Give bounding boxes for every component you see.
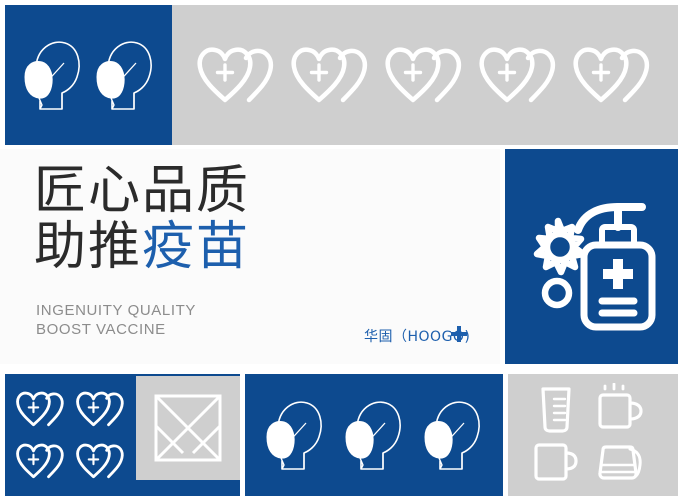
heart-plus-icon: [570, 44, 656, 106]
heart-plus-icon: [74, 440, 128, 482]
plus-icon: [450, 325, 468, 343]
heart-plus-icon: [382, 44, 468, 106]
title-block: 匠心品质 助推疫苗: [34, 163, 250, 275]
face-mask-icon: [341, 393, 407, 477]
mug-icon: [532, 439, 580, 485]
image-placeholder-panel: [136, 376, 240, 480]
top-mask-panel: [5, 5, 172, 145]
poster-canvas: 匠心品质 助推疫苗 INGENUITY QUALITY BOOST VACCIN…: [0, 0, 678, 496]
steaming-cup-icon: [596, 383, 644, 435]
face-mask-icon: [22, 33, 84, 117]
heart-plus-icon: [194, 44, 280, 106]
subtitle-line-2: BOOST VACCINE: [36, 320, 196, 339]
heart-plus-icon: [14, 388, 68, 430]
bottom-mask-panel: [245, 374, 503, 496]
heart-plus-icon: [74, 388, 128, 430]
title-line-1-text: 匠心品质: [34, 161, 250, 221]
title-line-2-blue-text: 疫苗: [142, 217, 250, 277]
subtitle-line-1: INGENUITY QUALITY: [36, 301, 196, 320]
main-text-panel: 匠心品质 助推疫苗 INGENUITY QUALITY BOOST VACCIN…: [0, 149, 500, 364]
heart-plus-icon: [476, 44, 562, 106]
face-mask-icon: [94, 33, 156, 117]
teapot-icon: [594, 439, 646, 485]
beaker-icon: [534, 385, 578, 433]
heart-plus-icon: [288, 44, 374, 106]
sanitizer-panel: [505, 149, 678, 364]
hand-sanitizer-icon: [522, 183, 662, 331]
title-line-1: 匠心品质: [34, 163, 250, 219]
face-mask-icon: [420, 393, 486, 477]
heart-plus-icon: [14, 440, 68, 482]
heart-grid: [13, 384, 129, 486]
bottom-vessel-panel: [508, 374, 678, 496]
top-heart-band: [172, 5, 678, 145]
subtitle-block: INGENUITY QUALITY BOOST VACCINE: [36, 301, 196, 339]
title-line-2: 助推疫苗: [34, 219, 250, 275]
face-mask-icon: [262, 393, 328, 477]
image-placeholder-icon: [153, 393, 223, 463]
title-line-2-dark-text: 助推: [34, 217, 142, 277]
